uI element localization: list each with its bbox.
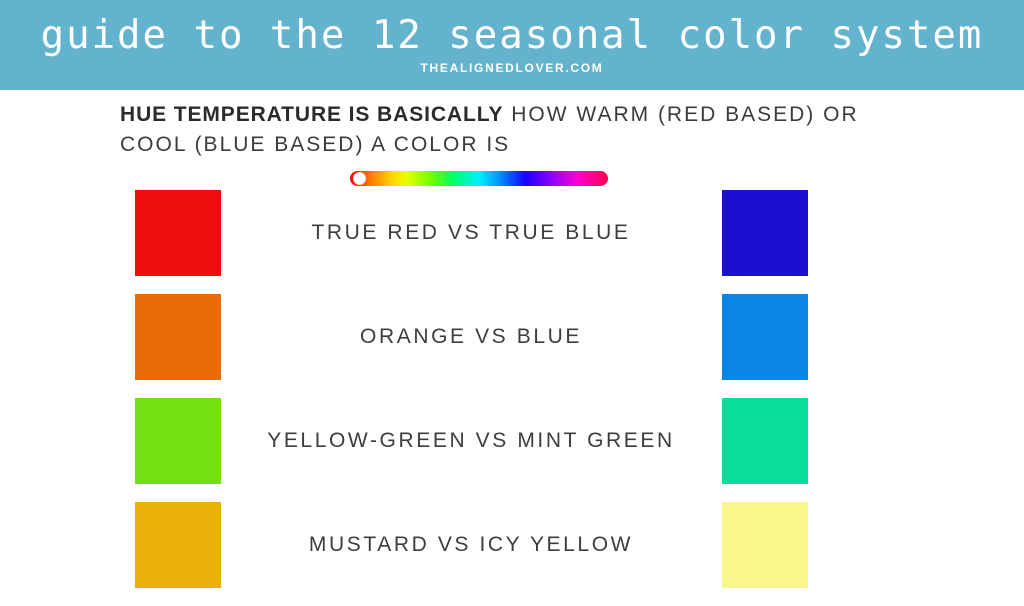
cool-color-swatch — [722, 502, 808, 588]
comparison-row-label: YELLOW-GREEN VS MINT GREEN — [231, 398, 711, 484]
intro-lead-text: HUE TEMPERATURE IS BASICALLY — [120, 103, 503, 126]
color-comparison-list: TRUE RED VS TRUE BLUE ORANGE VS BLUE YEL… — [0, 190, 1024, 606]
warm-color-swatch — [135, 398, 221, 484]
header-banner: guide to the 12 seasonal color system TH… — [0, 0, 1024, 90]
comparison-row-label: MUSTARD VS ICY YELLOW — [231, 502, 711, 588]
comparison-row: MUSTARD VS ICY YELLOW — [0, 502, 1024, 588]
site-credit: THEALIGNEDLOVER.COM — [0, 61, 1024, 75]
cool-color-swatch — [722, 294, 808, 380]
cool-color-swatch — [722, 398, 808, 484]
comparison-row: ORANGE VS BLUE — [0, 294, 1024, 380]
warm-color-swatch — [135, 502, 221, 588]
comparison-row-label: TRUE RED VS TRUE BLUE — [231, 190, 711, 276]
warm-color-swatch — [135, 190, 221, 276]
comparison-row-label: ORANGE VS BLUE — [231, 294, 711, 380]
warm-color-swatch — [135, 294, 221, 380]
hue-slider-handle[interactable] — [353, 172, 366, 185]
hue-gradient-bar[interactable] — [350, 171, 608, 186]
cool-color-swatch — [722, 190, 808, 276]
comparison-row: TRUE RED VS TRUE BLUE — [0, 190, 1024, 276]
page-title: guide to the 12 seasonal color system — [0, 14, 1024, 58]
comparison-row: YELLOW-GREEN VS MINT GREEN — [0, 398, 1024, 484]
intro-paragraph: HUE TEMPERATURE IS BASICALLY HOW WARM (R… — [120, 100, 910, 160]
